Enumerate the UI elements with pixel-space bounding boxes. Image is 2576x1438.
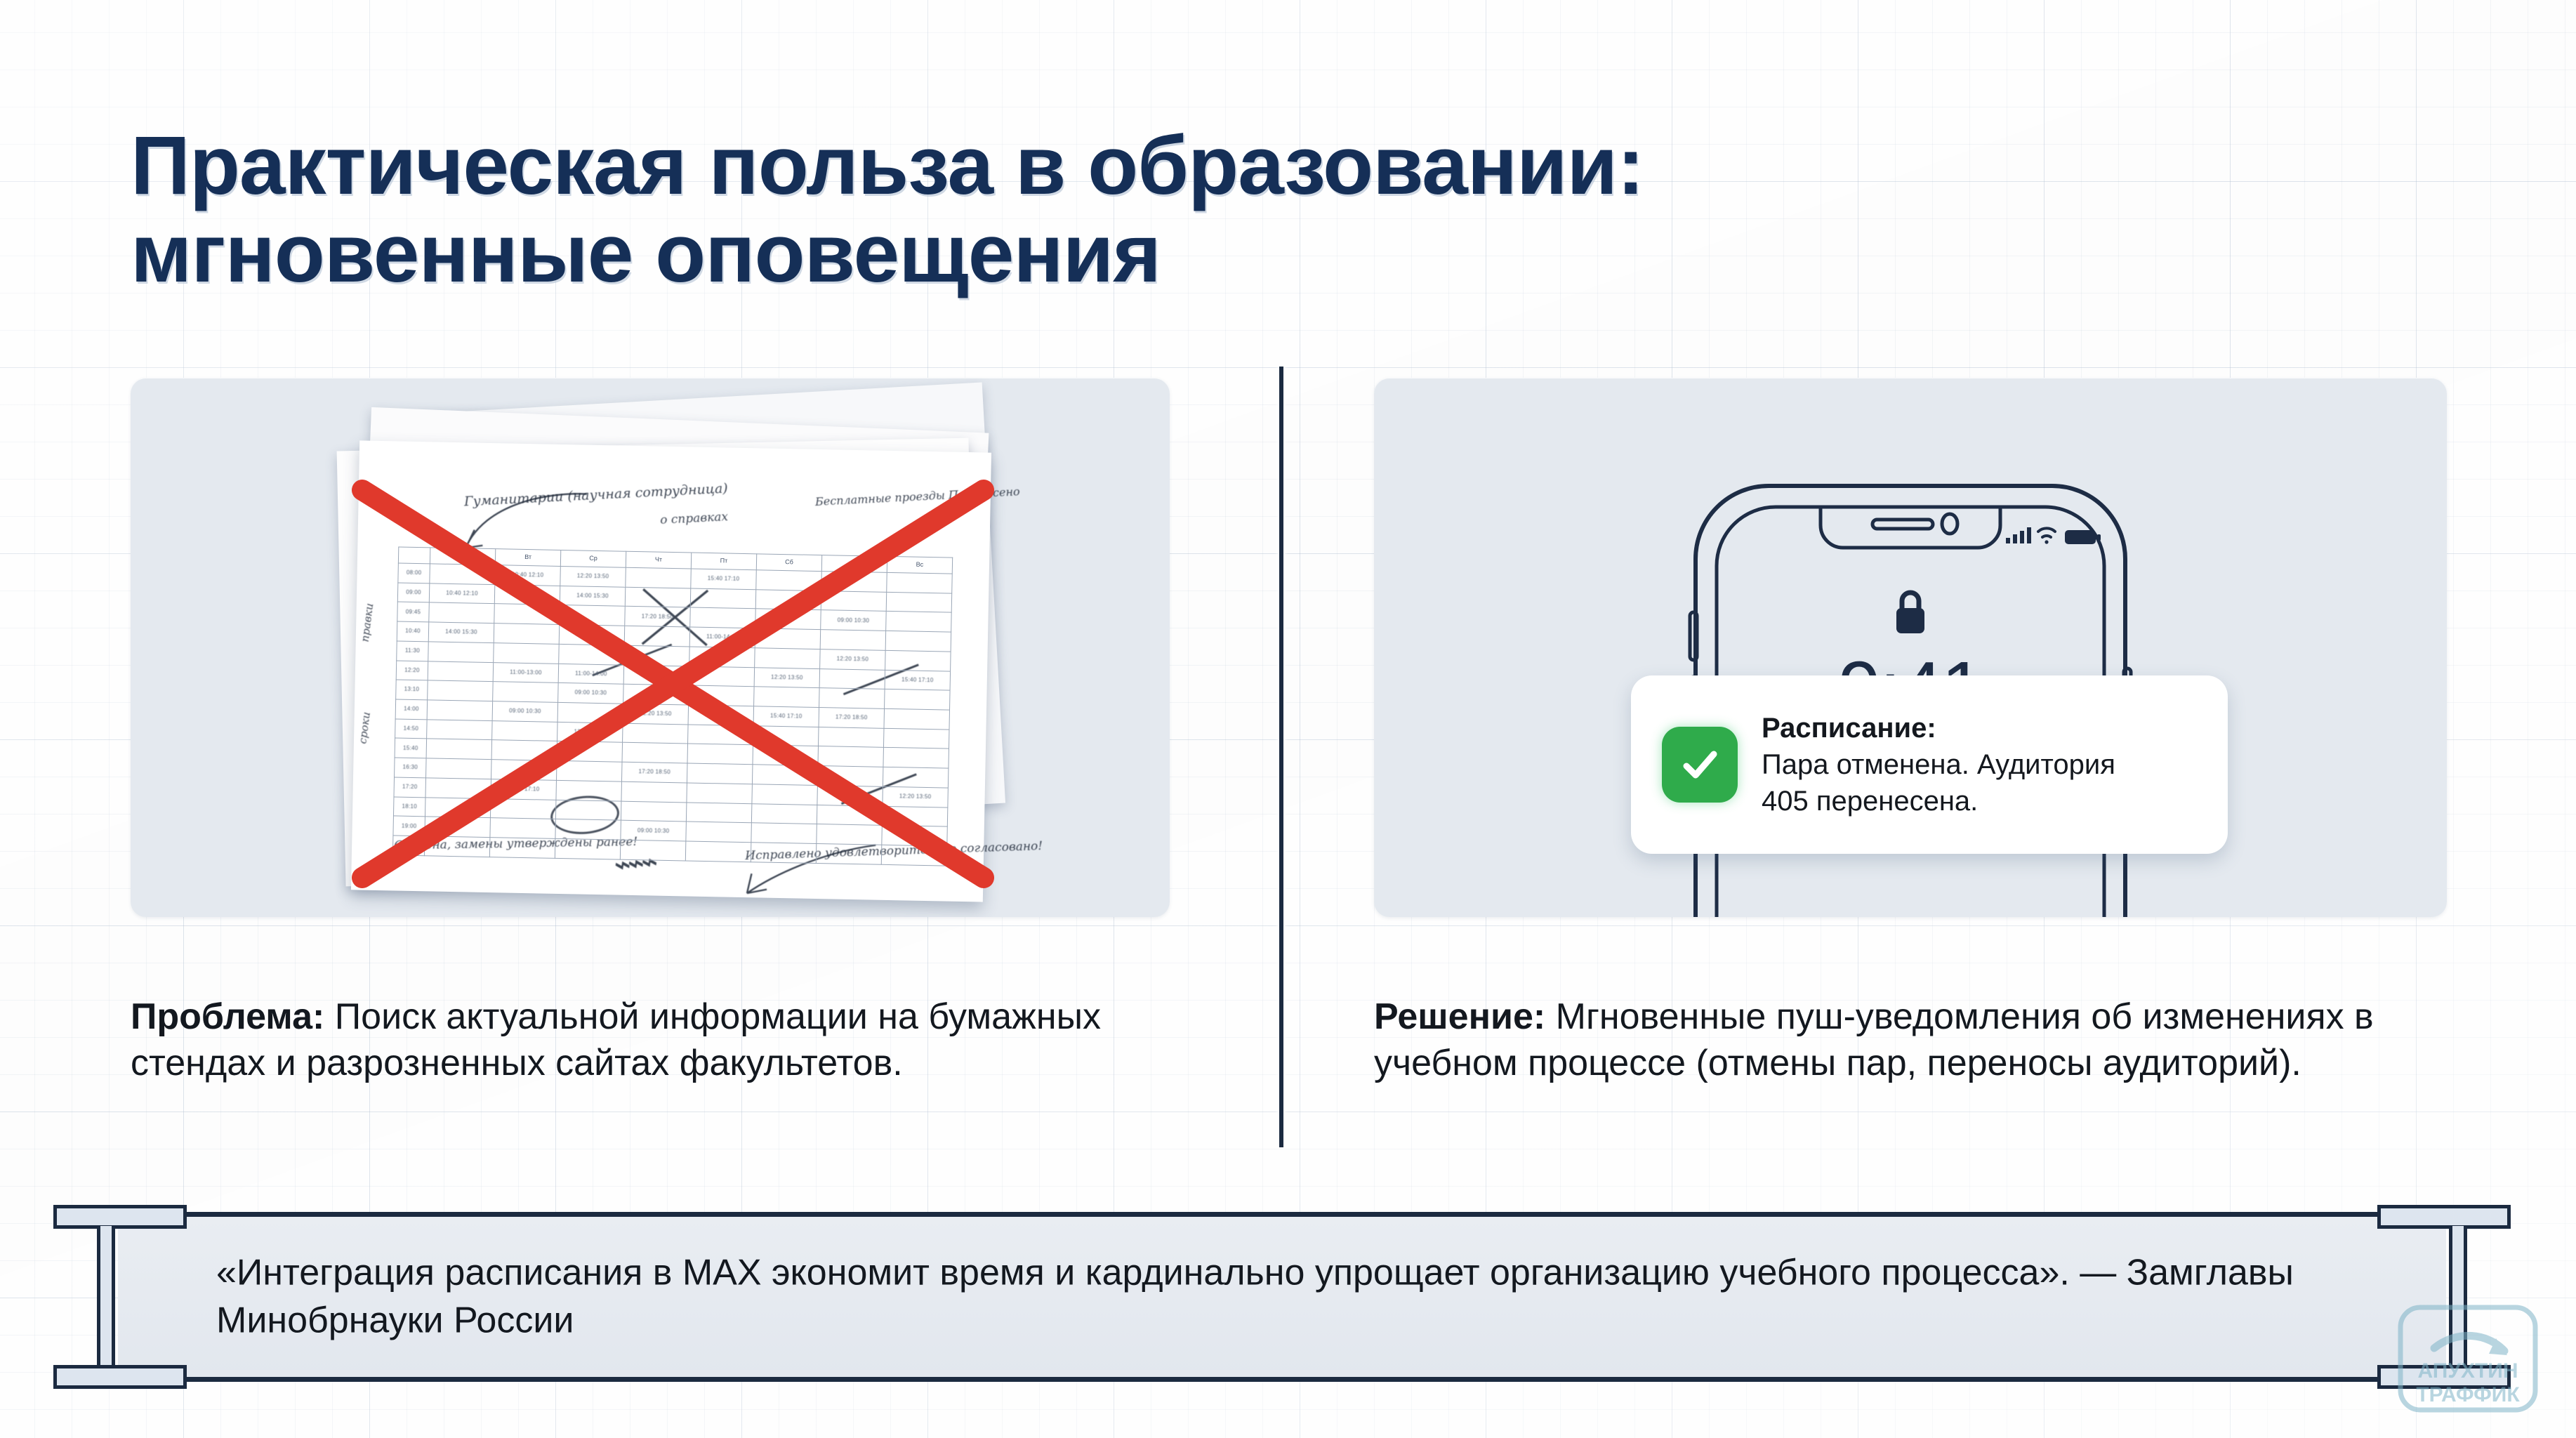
watermark: АПУХТИН ТРАФФИК [2391,1296,2545,1416]
table-cell [752,765,818,785]
push-notification-card[interactable]: Расписание: Пара отменена. Аудитория 405… [1631,675,2228,854]
paper-sheet-front: Гуманитарии (научная сотрудница) о справ… [351,440,991,902]
table-cell [560,605,626,626]
table-cell [883,767,949,788]
table-row-time: 10:40 [397,621,429,642]
table-cell [756,570,822,591]
handwritten-note-right: Бесплатные проезды Перенесено [815,484,1020,508]
table-cell [755,609,821,629]
table-cell [623,685,689,705]
table-cell [425,778,491,798]
table-cell [819,668,885,689]
table-cell [751,803,817,824]
table-row-time: 09:45 [397,602,430,622]
table-cell [884,708,950,729]
table-cell [687,783,753,803]
wifi-icon [2038,528,2055,543]
title-line-2: мгновенные оповещения [131,210,2448,298]
table-cell [425,817,491,837]
battery-icon [2065,530,2101,544]
table-cell [494,604,560,624]
table-cell [489,838,555,859]
table-cell [752,784,818,805]
table-header-cell: Ср [560,550,626,567]
table-cell [557,741,623,762]
table-cell [625,587,691,607]
table-cell [685,841,751,862]
solution-caption-label: Решение: [1374,996,1545,1037]
table-cell [882,806,948,826]
table-cell [624,626,690,646]
table-row-time: 11:30 [397,641,429,661]
table-cell [428,642,494,662]
check-icon [1662,727,1738,803]
table-row-time: 15:40 [395,738,427,758]
table-cell: 17:20 18:50 [819,708,885,728]
table-cell [821,591,887,611]
table-cell [818,727,884,747]
table-cell: 17:20 18:50 [621,762,687,782]
table-cell [426,758,492,779]
bracket-top-bar [53,1205,187,1229]
table-cell [490,798,556,819]
bracket-stem [97,1226,115,1368]
table-cell [690,588,756,609]
handwritten-note-left-1: правки [359,602,376,642]
table-cell: 10:40 12:10 [495,565,561,586]
table-row-time: 19:00 [393,816,425,836]
table-cell [885,650,951,671]
table-cell [816,844,882,865]
table-cell [620,840,686,861]
table-header-cell: Вс [887,556,952,574]
table-row-time: 17:20 [394,777,426,798]
table-cell [555,800,621,820]
table-cell [883,748,949,768]
table-cell [755,590,821,610]
table-cell [555,819,621,840]
table-cell [557,702,623,723]
notification-text: Расписание: Пара отменена. Аудитория 405… [1762,710,2115,819]
table-cell [624,645,690,666]
table-cell: 17:20 18:50 [559,625,625,645]
table-cell [886,592,952,612]
table-cell: 11:00-13:00 [493,662,559,682]
table-cell [428,680,494,701]
table-row-time: 13:10 [396,680,428,700]
table-cell [491,740,557,760]
check-glyph [1677,741,1723,788]
table-cell [427,700,493,720]
table-cell: 14:00 15:30 [560,586,626,606]
table-cell [820,630,886,650]
table-cell [424,836,490,857]
table-header-cell: Сб [756,554,821,572]
paper-schedule-stack: Гуманитарии (научная сотрудница) о справ… [131,378,1170,917]
table-cell [886,612,952,632]
problem-caption-label: Проблема: [131,996,324,1037]
table-row-time: 18:10 [393,797,425,817]
table-cell [883,728,949,748]
table-cell: 09:00 10:30 [492,701,558,722]
lock-icon [1896,593,1924,633]
table-cell: 15:40 17:10 [491,779,557,800]
table-cell [817,805,883,825]
table-cell: 09:00 10:30 [821,610,887,631]
table-header-cell: Пн [430,548,495,565]
problem-caption: Проблема: Поиск актуальной информации на… [131,994,1226,1086]
notification-body-line-2: 405 перенесена. [1762,786,1978,817]
table-cell [490,818,556,838]
quote-text: «Интеграция расписания в MAX экономит вр… [216,1249,2344,1344]
column-divider [1279,367,1283,1147]
table-cell [755,628,821,649]
bracket-bottom-bar [53,1365,187,1389]
table-header-cell: Вт [495,549,560,567]
table-cell [755,648,821,668]
slide-stage: Практическая польза в образовании: мгнов… [0,0,2576,1438]
table-cell [689,666,755,687]
table-cell [494,584,560,605]
table-cell: 12:20 13:50 [883,786,949,807]
table-cell: 15:40 17:10 [753,706,819,727]
table-cell [493,682,559,702]
table-row-time: 09:00 [397,583,430,603]
table-row-time: 14:50 [395,719,428,739]
table-cell: 09:00 10:30 [558,683,624,704]
schedule-table-body: 08:0010:40 12:1012:20 13:5015:40 17:1009… [392,563,952,866]
table-cell: 14:00 15:30 [688,705,754,725]
table-cell: 10:40 12:10 [429,583,495,604]
table-cell: 11:00-14:00 [689,627,755,647]
table-cell [817,766,883,786]
table-cell [622,743,688,763]
table-cell [623,723,689,744]
table-header-cell: Пт [691,553,756,570]
table-cell [427,720,493,740]
table-cell [621,801,687,822]
table-cell: 12:20 13:50 [560,566,626,586]
notification-body-line-1: Пара отменена. Аудитория [1762,746,2115,783]
table-cell: 09:00 10:30 [621,821,687,841]
handwritten-note-left-2: сроки [356,711,373,745]
quote-banner: «Интеграция расписания в MAX экономит вр… [53,1205,2511,1389]
table-header-cell: Вс [821,555,887,573]
table-cell [817,824,883,845]
table-row-time: 08:00 [398,563,430,583]
table-cell: 14:00 15:30 [428,622,494,642]
table-cell [492,720,558,741]
handwritten-note-top-secondary: о справках [660,510,729,527]
table-cell: 12:20 13:50 [557,722,623,742]
table-row-time: 14:00 [395,699,428,720]
table-cell [429,602,495,623]
table-cell [687,763,753,784]
table-cell [751,823,817,843]
solution-image-card: 9:41 Расписание: Пара отменена. Аудитори… [1374,378,2447,917]
solution-caption: Решение: Мгновенные пуш-уведомления об и… [1374,994,2497,1086]
table-cell [425,797,491,817]
table-cell: 12:20 13:50 [623,704,689,724]
table-cell: 15:40 17:10 [885,670,951,690]
signal-icon [2006,527,2031,543]
table-header-cell: Чт [626,551,691,569]
table-cell [819,688,885,708]
schedule-table-wrapper: Пн Вт Ср Чт Пт Сб Вс Вс 08:0010:40 12:10… [392,547,953,866]
table-cell [882,826,948,846]
table-cell [818,746,884,767]
table-cell [491,760,557,780]
table-cell [881,845,947,866]
table-cell [689,647,755,667]
table-cell: 12:20 13:50 [754,667,820,687]
table-cell [686,822,752,842]
watermark-line-1: АПУХТИН [2417,1359,2518,1383]
table-cell [689,685,755,706]
watermark-line-2: ТРАФФИК [2416,1383,2520,1406]
bracket-top-bar [2377,1205,2511,1229]
table-cell: 17:20 18:50 [625,607,691,627]
table-cell [621,781,687,802]
problem-image-card: Гуманитарии (научная сотрудница) о справ… [131,378,1170,917]
table-cell [430,564,496,584]
table-cell [686,803,752,823]
table-cell [428,661,494,681]
table-cell: 15:40 17:10 [691,569,757,589]
table-cell [687,744,753,764]
table-cell [821,572,887,592]
table-cell [887,572,953,593]
table-cell [559,644,625,664]
table-row-time: 12:20 [396,661,428,681]
quote-bracket-left [53,1205,187,1389]
notification-title: Расписание: [1762,710,2115,746]
title-line-1: Практическая польза в образовании: [131,122,2448,210]
page-title: Практическая польза в образовании: мгнов… [131,122,2448,298]
table-cell: 09:00 10:30 [623,665,689,685]
table-cell: 10:40 12:10 [817,785,883,805]
table-cell [885,690,951,710]
table-row-time: 19:50 [392,836,425,856]
table-cell [556,761,622,781]
table-cell [690,607,756,628]
table-cell [753,745,819,765]
table-cell [751,843,817,864]
table-cell [555,838,621,859]
table-cell [626,567,692,588]
schedule-table: Пн Вт Ср Чт Пт Сб Вс Вс 08:0010:40 12:10… [392,547,953,866]
watermark-logo: АПУХТИН ТРАФФИК [2391,1296,2545,1416]
table-cell [426,739,492,759]
table-cell [494,643,560,664]
table-cell [754,687,820,707]
table-cell: 11:00-14:00 [558,664,624,684]
table-cell [753,726,819,746]
table-header-cell [398,547,430,564]
table-cell: 12:20 13:50 [820,649,886,669]
table-row-time: 16:30 [395,758,427,778]
table-cell [688,725,754,745]
table-cell [885,631,951,652]
table-cell [494,624,560,644]
table-cell [556,780,622,800]
